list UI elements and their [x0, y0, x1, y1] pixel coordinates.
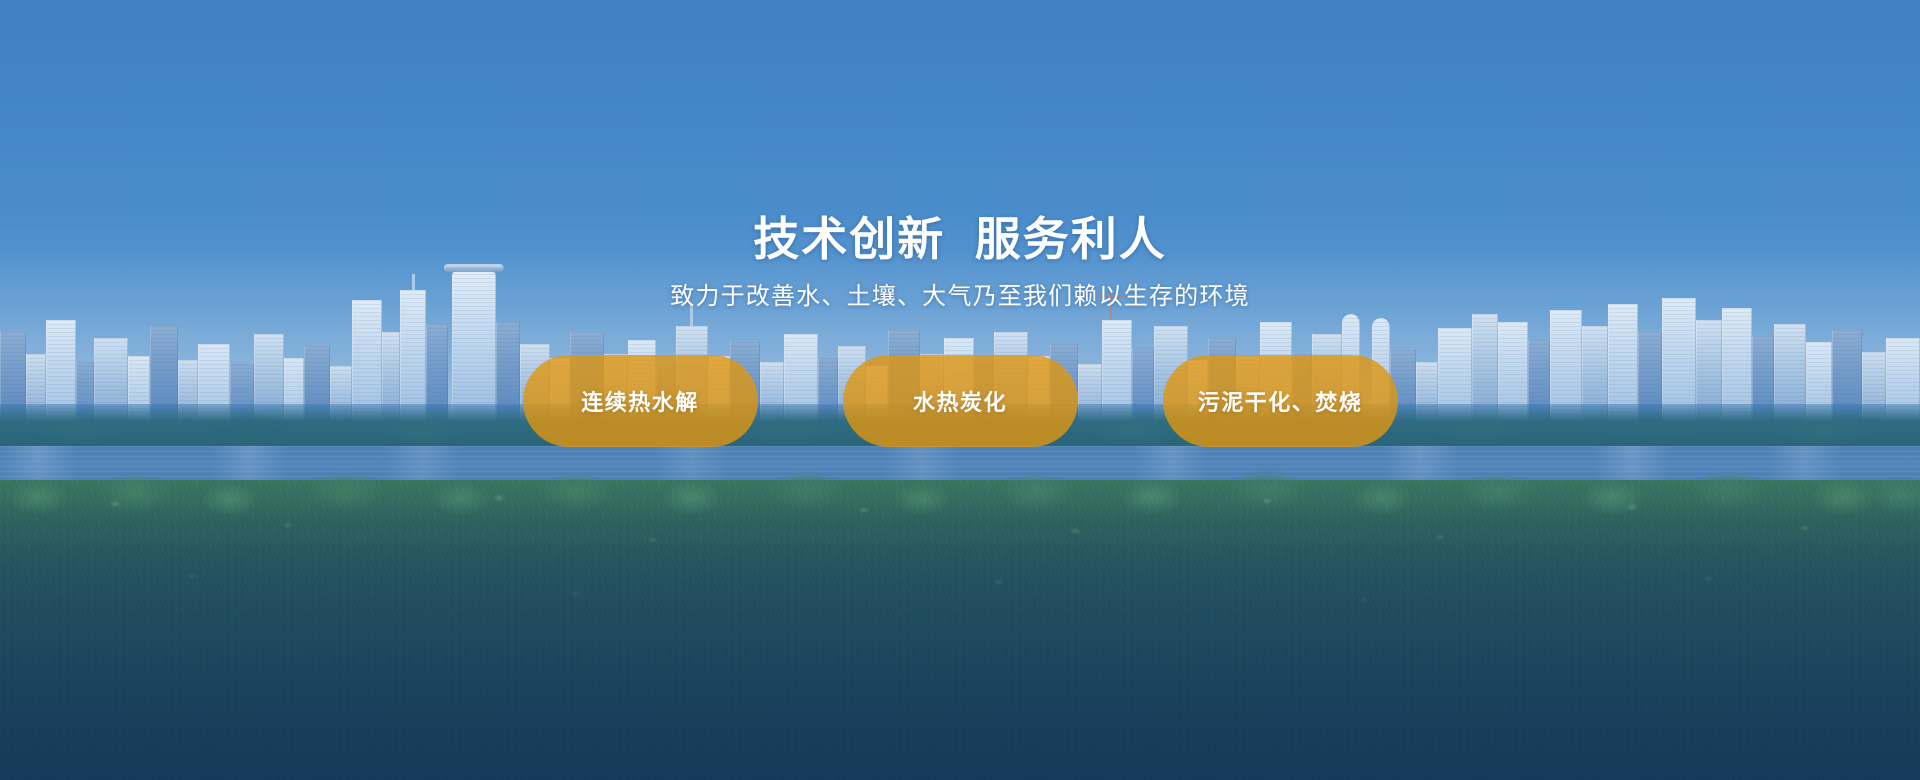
service-button-hydrothermal-carbonization[interactable]: 水热炭化: [843, 355, 1078, 447]
service-button-continuous-thermal-hydrolysis[interactable]: 连续热水解: [523, 355, 758, 447]
hero-content: 技术创新 服务利人 致力于改善水、土壤、大气乃至我们赖以生存的环境 连续热水解 …: [0, 0, 1920, 780]
page-subtitle: 致力于改善水、土壤、大气乃至我们赖以生存的环境: [670, 280, 1250, 314]
page-title: 技术创新 服务利人: [753, 212, 1167, 266]
hero-banner: 技术创新 服务利人 致力于改善水、土壤、大气乃至我们赖以生存的环境 连续热水解 …: [0, 0, 1920, 780]
service-button-sludge-drying-incineration[interactable]: 污泥干化、焚烧: [1163, 355, 1398, 447]
service-button-row: 连续热水解 水热炭化 污泥干化、焚烧: [523, 355, 1398, 447]
